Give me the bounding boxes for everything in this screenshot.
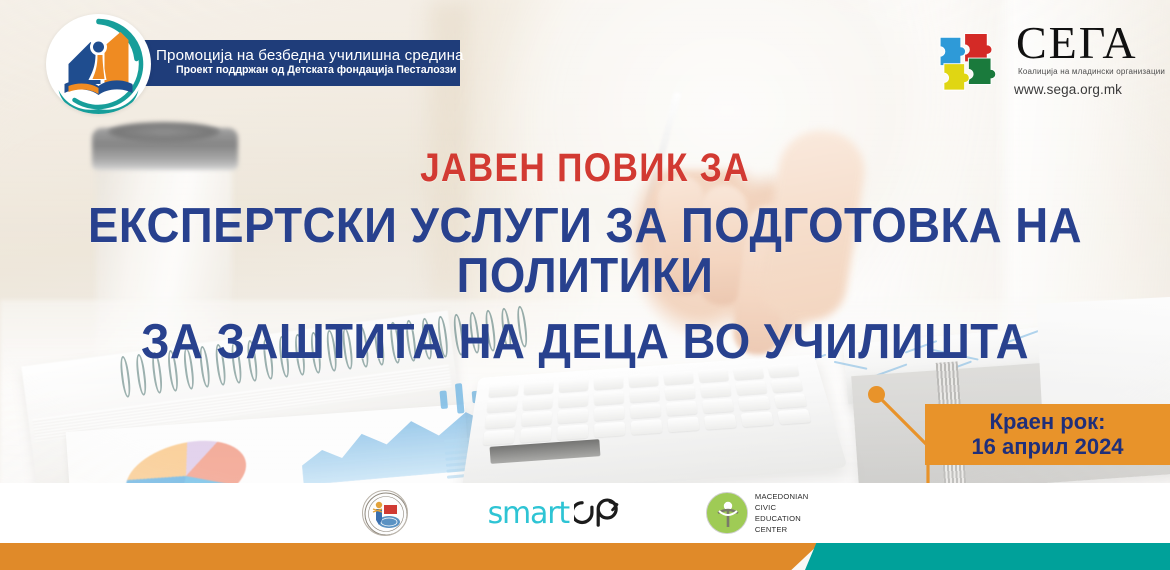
partner-ministry bbox=[362, 490, 408, 536]
partner-smartup: smart bbox=[488, 496, 626, 531]
deadline-date: 16 април 2024 bbox=[971, 435, 1123, 460]
deadline-label: Краен рок: bbox=[990, 410, 1106, 435]
circular-seal-emblem-icon bbox=[362, 490, 408, 536]
four-puzzle-pieces-icon bbox=[930, 26, 1020, 92]
partner-logo-strip: smart MACEDONIAN CIVIC EDUCATI bbox=[0, 483, 1170, 543]
project-logo bbox=[46, 14, 151, 114]
callout-dot-icon bbox=[868, 386, 885, 403]
mcec-green-circle-person-icon bbox=[706, 492, 748, 534]
school-house-book-logo-icon bbox=[46, 14, 151, 114]
headline-line-2: ЕКСПЕРТСКИ УСЛУГИ ЗА ПОДГОТОВКА НА ПОЛИТ… bbox=[41, 202, 1129, 302]
project-badge-title: Промоција на безбедна училишна средина bbox=[156, 48, 460, 64]
mcec-line-3: EDUCATION bbox=[755, 514, 801, 523]
smartup-arrow-icon bbox=[574, 498, 626, 529]
footer-bar-right bbox=[805, 543, 1170, 570]
public-call-banner: Промоција на безбедна училишна средина П… bbox=[0, 0, 1170, 570]
mcec-line-4: CENTER bbox=[755, 525, 787, 534]
mcec-line-1: MACEDONIAN bbox=[755, 492, 808, 501]
sega-tagline: Коалиција на младински организации bbox=[1018, 67, 1165, 76]
project-badge-subtitle: Проект поддржан од Детската фондација Пе… bbox=[156, 64, 460, 77]
deadline-badge: Краен рок: 16 април 2024 bbox=[925, 404, 1170, 465]
project-badge-bar: Промоција на безбедна училишна средина П… bbox=[130, 40, 460, 86]
mcec-line-2: CIVIC bbox=[755, 503, 776, 512]
sega-wordmark: СЕГА bbox=[1016, 20, 1138, 66]
mcec-wordmark: MACEDONIAN CIVIC EDUCATION CENTER bbox=[755, 491, 808, 535]
partner-mcec: MACEDONIAN CIVIC EDUCATION CENTER bbox=[706, 491, 808, 535]
footer-bar-left bbox=[0, 543, 820, 570]
sega-url: www.sega.org.mk bbox=[1014, 82, 1122, 97]
headline-block: ЈАВЕН ПОВИК ЗА ЕКСПЕРТСКИ УСЛУГИ ЗА ПОДГ… bbox=[0, 148, 1170, 368]
headline-line-1: ЈАВЕН ПОВИК ЗА bbox=[70, 148, 1100, 188]
smartup-wordmark: smart bbox=[488, 496, 569, 531]
sega-logo: СЕГА Коалиција на младински организации … bbox=[928, 18, 1158, 104]
headline-line-3: ЗА ЗАШТИТА НА ДЕЦА ВО УЧИЛИШТА bbox=[41, 318, 1129, 368]
